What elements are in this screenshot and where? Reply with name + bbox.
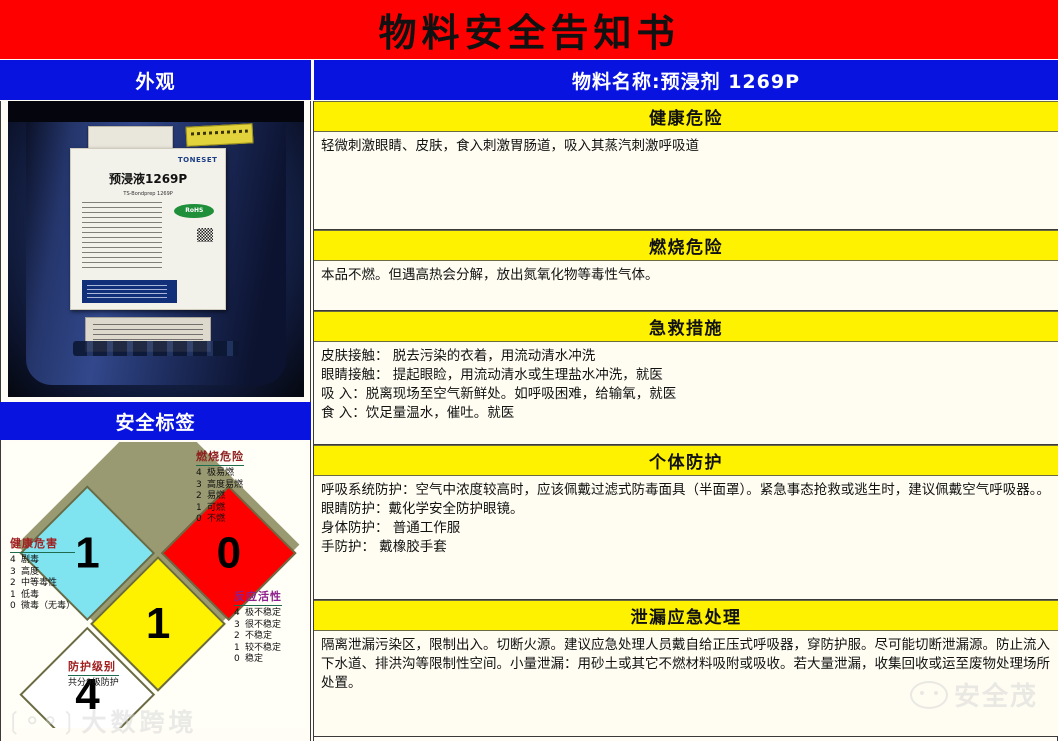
nfpa-health-caption: 健康危害 [10,537,75,551]
nfpa-reactivity-caption: 反应活性 [234,590,282,604]
nfpa-fire-legend: 燃烧危险 4极易燃 3高度易燃 2易燃 1可燃 0不燃 [196,450,244,526]
section-header-personal-protection: 个体防护 [314,445,1058,476]
left-column: TONESET 预浸液1269P TS-Bondprep 1269P RoHS … [0,101,311,741]
section-header-fire-hazard: 燃烧危险 [314,230,1058,261]
section-body-first-aid: 皮肤接触： 脱去污染的衣着，用流动清水冲洗 眼睛接触： 提起眼睑，用流动清水或生… [314,342,1058,445]
legend-item: 0微毒（无毒） [10,601,75,613]
brand-text: TONESET [178,156,217,164]
section-header-health-hazard: 健康危险 [314,101,1058,132]
legend-item: 1低毒 [10,590,75,602]
safety-label-header-text: 安全标签 [115,408,195,435]
legend-item: 2不稳定 [234,631,282,643]
legend-rule [234,605,282,606]
legend-rule [196,465,244,466]
legend-item: 1可燃 [196,503,244,515]
nfpa-fire-caption: 燃烧危险 [196,450,244,464]
section-body-health-hazard: 轻微刺激眼睛、皮肤，食入刺激胃肠道，吸入其蒸汽刺激呼吸道 [314,132,1058,230]
material-name-label: 物料名称:预浸剂 1269P [572,67,800,94]
label-spec-text-block [82,202,162,269]
page-title: 物料安全告知书 [378,2,679,57]
section-line: 皮肤接触： 脱去污染的衣着，用流动清水冲洗 [321,347,1051,366]
nfpa-fire-value: 0 [216,531,240,575]
section-line: 轻微刺激眼睛、皮肤，食入刺激胃肠道，吸入其蒸汽刺激呼吸道 [321,137,1051,156]
qr-code-icon [197,228,212,242]
material-name-header: 物料名称:预浸剂 1269P [314,60,1058,100]
nfpa-health-value: 1 [75,531,99,575]
drum-main-label: TONESET 预浸液1269P TS-Bondprep 1269P RoHS [70,148,226,310]
legend-item: 4极易燃 [196,468,244,480]
legend-item: 4剧毒 [10,555,75,567]
safety-label-header: 安全标签 [0,402,311,440]
legend-item: 2中等毒性 [10,578,75,590]
section-line: 手防护： 戴橡胶手套 [321,538,1051,557]
legend-item: 1较不稳定 [234,643,282,655]
nfpa-protection-note: 共分9级防护 [68,678,119,690]
section-line: 呼吸系统防护：空气中浓度较高时，应该佩戴过滤式防毒面具（半面罩）。紧急事态抢救或… [321,481,1051,500]
nfpa-protection-caption: 防护级别 [68,660,119,674]
section-line: 眼睛接触： 提起眼睑，用流动清水或生理盐水冲洗，就医 [321,366,1051,385]
legend-item: 2易燃 [196,491,244,503]
nfpa-health-legend: 健康危害 4剧毒 3高度 2中等毒性 1低毒 0微毒（无毒） [10,537,75,613]
appearance-header: 外观 [0,60,311,100]
legend-item: 3很不稳定 [234,620,282,632]
section-line: 身体防护： 普通工作服 [321,519,1051,538]
section-header-first-aid: 急救措施 [314,311,1058,342]
legend-item: 4极不稳定 [234,608,282,620]
section-line: 本品不燃。但遇高热会分解，放出氮氧化物等毒性气体。 [321,266,1051,285]
section-line: 食 入：饮足量温水，催吐。就医 [321,404,1051,423]
product-label-subtitle: TS-Bondprep 1269P [83,191,212,197]
nfpa-reactivity-legend: 反应活性 4极不稳定 3很不稳定 2不稳定 1较不稳定 0稳定 [234,590,282,666]
photo-top-shadow [8,101,304,122]
legend-item: 0不燃 [196,514,244,526]
product-label-title: 预浸液1269P [83,170,212,187]
drum-yellow-hazard-sticker [185,123,253,146]
legend-item: 0稳定 [234,654,282,666]
rohs-badge: RoHS [174,204,214,218]
section-body-personal-protection: 呼吸系统防护：空气中浓度较高时，应该佩戴过滤式防毒面具（半面罩）。紧急事态抢救或… [314,476,1058,600]
drum-ribs [73,341,239,356]
nfpa-protection-legend: 防护级别 共分9级防护 [68,660,119,690]
nfpa-diamond-cell: 0 1 1 4 燃烧危险 4极易燃 3高度易燃 2易燃 1可燃 [6,442,306,728]
right-column: 健康危险 轻微刺激眼睛、皮肤，食入刺激胃肠道，吸入其蒸汽刺激呼吸道 燃烧危险 本… [314,101,1058,741]
msds-sheet: 物料安全告知书 外观 物料名称:预浸剂 1269P TONESET 预浸液126… [0,0,1058,741]
legend-item: 3高度 [10,567,75,579]
label-manufacturer-band [82,280,177,302]
section-line: 眼睛防护：戴化学安全防护眼镜。 [321,500,1051,519]
appearance-header-label: 外观 [135,67,175,94]
legend-item: 3高度易燃 [196,480,244,492]
section-header-leak-emergency: 泄漏应急处理 [314,600,1058,631]
section-line: 吸 入：脱离现场至空气新鲜处。如呼吸困难，给输氧，就医 [321,385,1051,404]
product-photo: TONESET 预浸液1269P TS-Bondprep 1269P RoHS [8,101,304,397]
document-title-banner: 物料安全告知书 [0,0,1058,59]
drum-image: TONESET 预浸液1269P TS-Bondprep 1269P RoHS [8,101,304,397]
section-body-fire-hazard: 本品不燃。但遇高热会分解，放出氮氧化物等毒性气体。 [314,261,1058,311]
nfpa-reactivity-value: 1 [146,602,170,646]
section-line: 隔离泄漏污染区，限制出入。切断火源。建议应急处理人员戴自给正压式呼吸器，穿防护服… [321,636,1051,693]
legend-rule [10,552,75,553]
drum-white-strip-label [88,126,173,149]
legend-rule [68,675,119,676]
section-body-leak-emergency: 隔离泄漏污染区，限制出入。切断火源。建议应急处理人员戴自给正压式呼吸器，穿防护服… [314,631,1058,737]
